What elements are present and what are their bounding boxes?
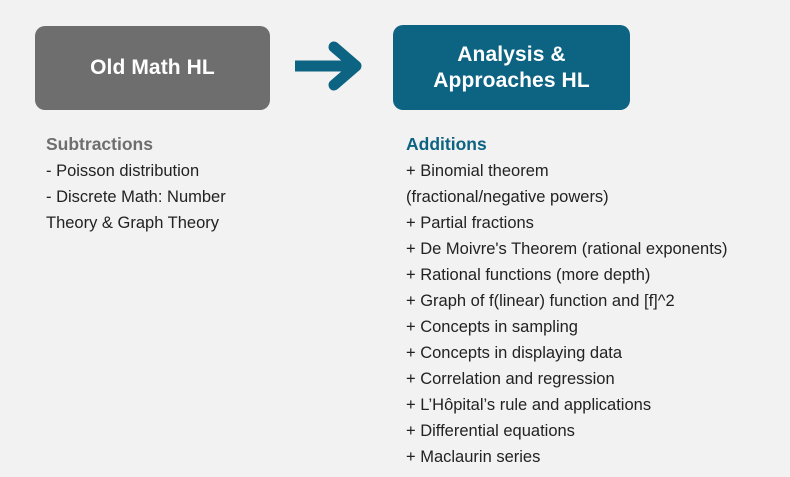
diagram-canvas: Old Math HL Analysis & Approaches HL Sub… bbox=[0, 0, 790, 477]
list-item: + De Moivre's Theorem (rational exponent… bbox=[406, 236, 786, 262]
additions-list: + Binomial theorem (fractional/negative … bbox=[406, 158, 786, 470]
list-item: (fractional/negative powers) bbox=[406, 184, 786, 210]
source-course-label: Old Math HL bbox=[90, 55, 215, 81]
list-item: + Partial fractions bbox=[406, 210, 786, 236]
list-item: + L’Hôpital’s rule and applications bbox=[406, 392, 786, 418]
target-course-label-wrap: Analysis & Approaches HL bbox=[433, 42, 590, 93]
list-item: + Rational functions (more depth) bbox=[406, 262, 786, 288]
list-item: + Differential equations bbox=[406, 418, 786, 444]
subtractions-heading: Subtractions bbox=[46, 131, 346, 157]
list-item: + Maclaurin series bbox=[406, 444, 786, 470]
arrow-right-glyph bbox=[290, 40, 375, 92]
list-item: Theory & Graph Theory bbox=[46, 210, 346, 236]
target-course-label-line2: Approaches HL bbox=[433, 68, 590, 94]
subtractions-column: Subtractions - Poisson distribution - Di… bbox=[46, 131, 346, 236]
source-course-box[interactable]: Old Math HL bbox=[35, 26, 270, 110]
arrow-right-icon bbox=[290, 40, 375, 92]
target-course-label-line1: Analysis & bbox=[433, 42, 590, 68]
target-course-box[interactable]: Analysis & Approaches HL bbox=[393, 25, 630, 110]
list-item: + Concepts in sampling bbox=[406, 314, 786, 340]
subtractions-list: - Poisson distribution - Discrete Math: … bbox=[46, 158, 346, 236]
additions-column: Additions + Binomial theorem (fractional… bbox=[406, 131, 786, 470]
list-item: + Concepts in displaying data bbox=[406, 340, 786, 366]
list-item: - Poisson distribution bbox=[46, 158, 346, 184]
list-item: + Binomial theorem bbox=[406, 158, 786, 184]
list-item: - Discrete Math: Number bbox=[46, 184, 346, 210]
list-item: + Correlation and regression bbox=[406, 366, 786, 392]
additions-heading: Additions bbox=[406, 131, 786, 157]
list-item: + Graph of f(linear) function and [f]^2 bbox=[406, 288, 786, 314]
